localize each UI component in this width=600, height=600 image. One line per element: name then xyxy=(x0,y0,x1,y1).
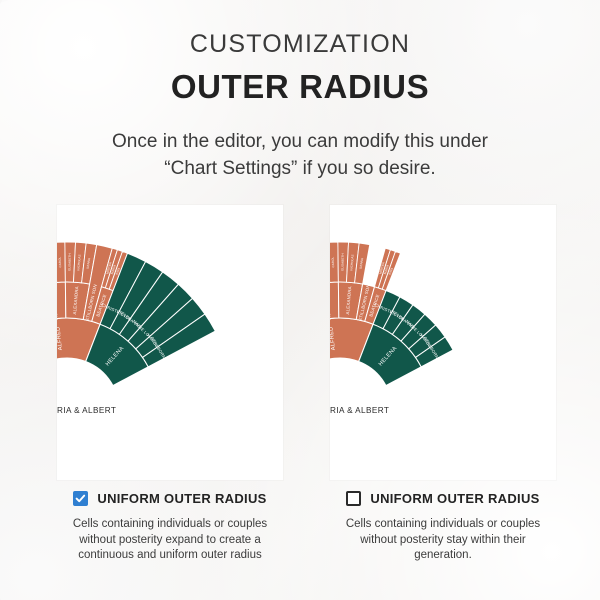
panel-non-uniform: ALICEALFREDHELENAVICTORIAALICELOUISEELIZ… xyxy=(330,205,556,480)
fan-center-label: RIA & ALBERT xyxy=(57,406,116,415)
check-icon xyxy=(75,493,86,504)
subtitle-block: Once in the editor, you can modify this … xyxy=(0,128,600,182)
fan-segment-label: CAROL xyxy=(331,256,336,267)
uniform-outer-radius-checkbox[interactable] xyxy=(73,491,88,506)
fan-segment-label: ELISABETH xyxy=(340,253,344,270)
uniform-outer-radius-label: UNIFORM OUTER RADIUS xyxy=(370,491,539,506)
fan-chart-card-uniform: ALICEALFREDHELENAVICTORIAALICELOUISEELIZ… xyxy=(57,205,283,480)
fan-chart-card-non-uniform: ALICEALFREDHELENAVICTORIAALICELOUISEELIZ… xyxy=(330,205,556,480)
page-title: OUTER RADIUS xyxy=(0,68,600,106)
option-row-non-uniform[interactable]: UNIFORM OUTER RADIUS xyxy=(330,491,556,506)
fan-segment-label: CAROL xyxy=(58,256,63,267)
kicker-text: CUSTOMIZATION xyxy=(0,30,600,59)
caption-non-uniform: Cells containing individuals or couples … xyxy=(330,517,556,564)
uniform-outer-radius-checkbox[interactable] xyxy=(346,491,361,506)
uniform-outer-radius-label: UNIFORM OUTER RADIUS xyxy=(97,491,266,506)
fan-chart-non-uniform: ALICEALFREDHELENAVICTORIAALICELOUISEELIZ… xyxy=(330,205,556,480)
option-row-uniform[interactable]: UNIFORM OUTER RADIUS xyxy=(57,491,283,506)
fan-chart-uniform: ALICEALFREDHELENAVICTORIAALICELOUISEELIZ… xyxy=(57,205,283,480)
fan-segment-label: ELISABETH xyxy=(67,253,71,270)
empty-checkbox-icon xyxy=(348,493,359,504)
panel-uniform: ALICEALFREDHELENAVICTORIAALICELOUISEELIZ… xyxy=(57,205,283,480)
fan-center-label: RIA & ALBERT xyxy=(330,406,389,415)
caption-uniform: Cells containing individuals or couples … xyxy=(57,517,283,564)
fan-segment[interactable] xyxy=(330,282,339,320)
subtitle-line-1: Once in the editor, you can modify this … xyxy=(0,128,600,155)
fan-segment[interactable] xyxy=(57,282,66,320)
subtitle-line-2: “Chart Settings” if you so desire. xyxy=(0,155,600,182)
